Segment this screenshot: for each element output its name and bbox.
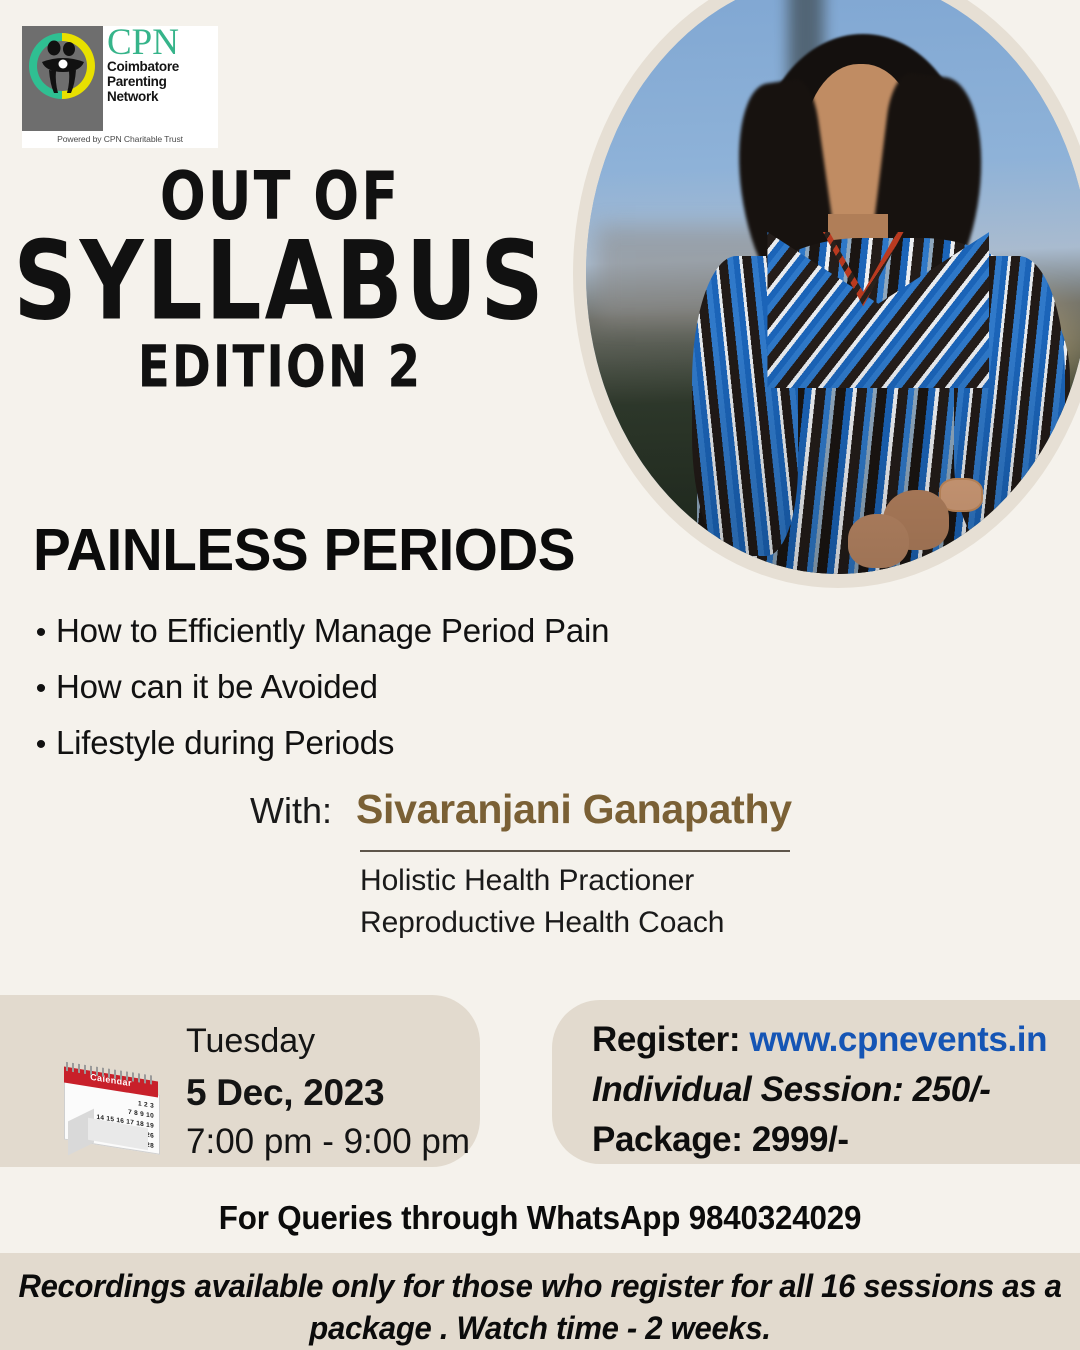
list-item-label: How to Efficiently Manage Period Pain xyxy=(56,612,609,651)
topic-list: • How to Efficiently Manage Period Pain … xyxy=(26,612,706,780)
bullet-icon: • xyxy=(26,618,56,648)
speaker-title-1: Holistic Health Practioner xyxy=(360,864,694,898)
speaker-block: With: Sivaranjani Ganapathy Holistic Hea… xyxy=(0,786,1080,833)
event-date: 5 Dec, 2023 xyxy=(186,1072,384,1114)
desk-calendar-icon: Calendar 1 2 3 7 8 9 10 13 14 15 16 17 1… xyxy=(58,1057,164,1151)
register-url-link[interactable]: www.cpnevents.in xyxy=(749,1020,1047,1059)
logo-acronym: CPN xyxy=(107,27,216,59)
bullet-icon: • xyxy=(26,730,56,760)
list-item: • How to Efficiently Manage Period Pain xyxy=(26,612,706,651)
cpn-parent-child-mark-icon xyxy=(22,26,103,131)
logo-top-row: CPN Coimbatore Parenting Network xyxy=(22,26,218,131)
price-individual: Individual Session: 250/- xyxy=(592,1070,990,1110)
event-time: 7:00 pm - 9:00 pm xyxy=(186,1122,470,1162)
logo-name-line1: Coimbatore xyxy=(107,60,216,74)
title-line-3: EDITION 2 xyxy=(0,338,560,396)
event-weekday: Tuesday xyxy=(186,1022,315,1061)
event-title: OUT OF SYLLABUS EDITION 2 xyxy=(0,163,560,385)
whatsapp-contact: For Queries through WhatsApp 9840324029 xyxy=(27,1199,1053,1237)
register-label: Register: xyxy=(592,1020,740,1059)
price-package: Package: 2999/- xyxy=(592,1120,849,1160)
register-line: Register: www.cpnevents.in xyxy=(592,1020,1047,1060)
speaker-title-2: Reproductive Health Coach xyxy=(360,906,724,940)
photo-vignette xyxy=(586,0,1080,574)
title-line-2: SYLLABUS xyxy=(0,223,560,339)
list-item: • How can it be Avoided xyxy=(26,668,706,707)
speaker-name-row: With: Sivaranjani Ganapathy xyxy=(0,786,1080,833)
speaker-with-label: With: xyxy=(250,790,332,832)
logo-wordmark: CPN Coimbatore Parenting Network xyxy=(103,26,218,131)
event-poster: CPN Coimbatore Parenting Network Powered… xyxy=(0,0,1080,1350)
list-item-label: Lifestyle during Periods xyxy=(56,724,394,763)
page-title: PAINLESS PERIODS xyxy=(33,516,575,584)
footer-note: Recordings available only for those who … xyxy=(16,1265,1064,1349)
logo-powered-by: Powered by CPN Charitable Trust xyxy=(22,131,218,148)
speaker-divider xyxy=(360,850,790,852)
cpn-logo: CPN Coimbatore Parenting Network Powered… xyxy=(22,26,218,148)
logo-name-line2: Parenting xyxy=(107,75,216,89)
parent-child-figure-icon xyxy=(36,38,90,94)
logo-name-line3: Network xyxy=(107,90,216,104)
speaker-name: Sivaranjani Ganapathy xyxy=(356,786,792,833)
list-item-label: How can it be Avoided xyxy=(56,668,378,707)
speaker-photo xyxy=(586,0,1080,574)
list-item: • Lifestyle during Periods xyxy=(26,724,706,763)
bullet-icon: • xyxy=(26,674,56,704)
